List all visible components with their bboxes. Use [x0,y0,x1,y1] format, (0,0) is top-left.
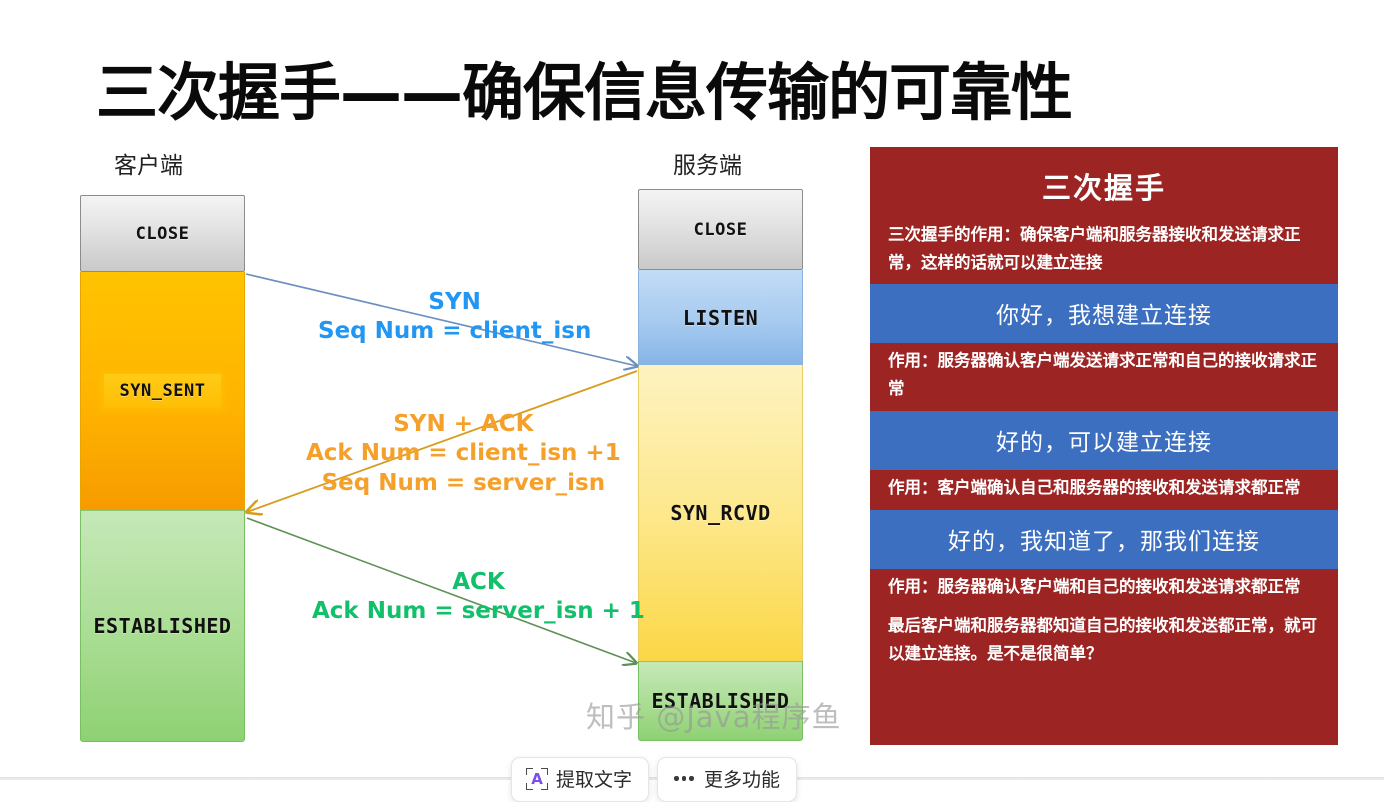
server-column-heading: 服务端 [673,146,742,180]
message-label-ack: ACK Ack Num = server_isn + 1 [312,568,645,627]
info-panel-title: 三次握手 [870,147,1338,217]
page-canvas: 三次握手——确保信息传输的可靠性 客户端 服务端 CLOSE SYN_SENT … [0,0,1384,787]
info-block-5: 好的，我知道了，那我们连接 [870,510,1338,569]
watermark: 知乎 @Java程序鱼 [586,694,841,736]
client-state-syn-sent: SYN_SENT [80,272,245,510]
client-state-close: CLOSE [80,195,245,272]
server-state-close: CLOSE [638,189,803,270]
extract-text-button[interactable]: A 提取文字 [511,757,649,802]
message-line-2: Ack Num = client_isn +1 [306,439,621,468]
message-line-1: SYN [318,288,591,317]
info-block-2: 作用：服务器确认客户端发送请求正常和自己的接收请求正常 [870,343,1338,410]
bracketed-a-icon: A [526,768,548,790]
client-state-column: CLOSE SYN_SENT ESTABLISHED [80,195,245,742]
info-block-0: 三次握手的作用：确保客户端和服务器接收和发送请求正常，这样的话就可以建立连接 [870,217,1338,284]
state-label: CLOSE [136,224,190,244]
message-line-3: Seq Num = server_isn [322,470,606,496]
page-title: 三次握手——确保信息传输的可靠性 [96,62,1072,124]
state-label: ESTABLISHED [94,614,232,638]
message-line-2: Ack Num = server_isn + 1 [312,598,645,624]
client-state-established: ESTABLISHED [80,510,245,742]
server-state-column: CLOSE LISTEN SYN_RCVD ESTABLISHED [638,189,803,741]
message-line-1: ACK [312,568,645,597]
extract-text-label: 提取文字 [556,765,632,792]
info-panel: 三次握手 三次握手的作用：确保客户端和服务器接收和发送请求正常，这样的话就可以建… [870,147,1338,745]
more-functions-button[interactable]: 更多功能 [657,757,797,802]
info-block-6: 作用：服务器确认客户端和自己的接收和发送请求都正常 [870,569,1338,609]
ellipsis-icon [672,776,696,781]
state-label: LISTEN [683,306,758,330]
client-column-heading: 客户端 [114,146,183,180]
bottom-toolbar: A 提取文字 更多功能 [511,757,797,802]
state-label: SYN_SENT [104,374,222,408]
info-block-4: 作用：客户端确认自己和服务器的接收和发送请求都正常 [870,470,1338,510]
message-label-syn-ack: SYN + ACK Ack Num = client_isn +1 Seq Nu… [306,410,621,498]
state-label: SYN_RCVD [670,501,770,525]
info-block-3: 好的，可以建立连接 [870,411,1338,470]
server-state-listen: LISTEN [638,270,803,365]
state-label: CLOSE [694,220,748,240]
message-label-syn: SYN Seq Num = client_isn [318,288,591,347]
info-block-1: 你好，我想建立连接 [870,284,1338,343]
message-line-1: SYN + ACK [306,410,621,439]
more-functions-label: 更多功能 [704,765,780,792]
info-block-7: 最后客户端和服务器都知道自己的接收和发送都正常，就可以建立连接。是不是很简单？ [870,608,1338,675]
message-line-2: Seq Num = client_isn [318,318,591,344]
server-state-syn-rcvd: SYN_RCVD [638,365,803,661]
